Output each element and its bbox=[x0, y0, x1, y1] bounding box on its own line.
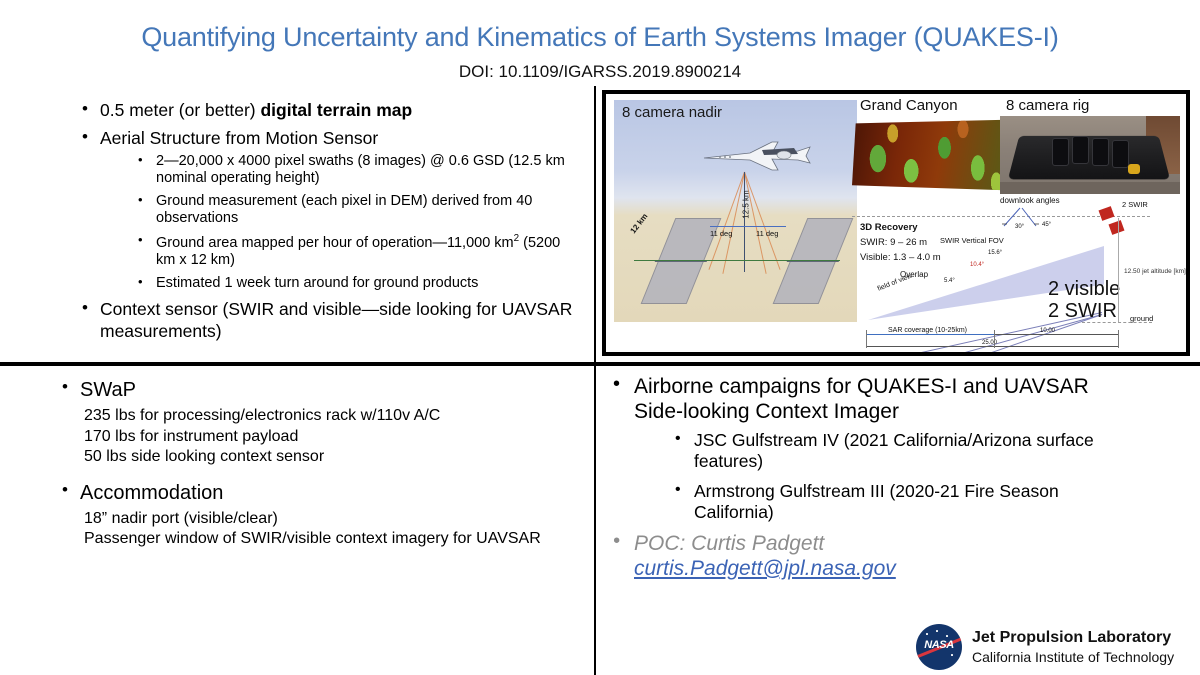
bottom-left-quadrant: SWaP 235 lbs for processing/electronics … bbox=[58, 378, 588, 550]
bottom-right-quadrant: Airborne campaigns for QUAKES-I and UAVS… bbox=[608, 374, 1108, 581]
ground-label: ground bbox=[1130, 314, 1153, 323]
jpl-line-2: California Institute of Technology bbox=[972, 649, 1174, 665]
airborne-campaigns-label: Airborne campaigns for QUAKES-I and UAVS… bbox=[634, 375, 1089, 423]
accommodation-line-1: 18” nadir port (visible/clear) bbox=[84, 509, 588, 529]
jet-altitude-label: 12.50 jet altitude [km] bbox=[1124, 268, 1186, 275]
swir-vertical-fov-label: SWIR Vertical FOV bbox=[940, 236, 1004, 245]
ground-reference-line bbox=[634, 260, 840, 261]
recovery-swir-range: SWIR: 9 – 26 m bbox=[860, 237, 927, 248]
jpl-logo: NASA Jet Propulsion Laboratory Californi… bbox=[916, 622, 1188, 672]
field-of-view-label: field of view bbox=[877, 273, 914, 293]
page-title: Quantifying Uncertainty and Kinematics o… bbox=[0, 22, 1200, 53]
nadir-altitude-label: 12.5 km bbox=[742, 190, 751, 218]
sub-bullet-ground-measurement: Ground measurement (each pixel in DEM) d… bbox=[134, 193, 583, 227]
swir-sensors-label: 2 SWIR bbox=[1122, 200, 1148, 209]
bullet-accommodation: Accommodation bbox=[58, 481, 588, 505]
swir-count-label: 2 SWIR bbox=[1048, 300, 1117, 323]
figure-panel: 8 camera nadir 12.5 km 11 deg 11 deg 12 … bbox=[602, 90, 1190, 356]
poc-line: POC: Curtis Padgett curtis.Padgett@jpl.n… bbox=[608, 532, 1108, 581]
nasa-meatball-icon: NASA bbox=[916, 624, 962, 670]
sub-bullet-ground-area: Ground area mapped per hour of operation… bbox=[134, 233, 583, 269]
nadir-altitude-line bbox=[744, 172, 745, 272]
vertical-divider-bottom bbox=[594, 366, 596, 675]
bullet-dtm-bold: digital terrain map bbox=[260, 100, 412, 120]
top-left-quadrant: 0.5 meter (or better) digital terrain ma… bbox=[78, 100, 583, 349]
sub-bullet-ground-area-prefix: Ground area mapped per hour of operation… bbox=[156, 235, 514, 251]
poc-email-link[interactable]: curtis.Padgett@jpl.nasa.gov bbox=[634, 557, 1108, 581]
campaign-jsc: JSC Gulfstream IV (2021 California/Arizo… bbox=[670, 430, 1108, 472]
campaign-armstrong: Armstrong Gulfstream III (2020-21 Fire S… bbox=[670, 481, 1108, 523]
camera-rig-photo bbox=[1000, 116, 1180, 194]
fov-angle-1: 15.6° bbox=[988, 250, 1002, 256]
accommodation-line-2: Passenger window of SWIR/visible context… bbox=[84, 529, 588, 549]
slide: Quantifying Uncertainty and Kinematics o… bbox=[0, 0, 1200, 675]
doi-subtitle: DOI: 10.1109/IGARSS.2019.8900214 bbox=[0, 62, 1200, 82]
bullet-asfm-label: Aerial Structure from Motion Sensor bbox=[100, 128, 378, 148]
vertical-divider-top bbox=[594, 86, 596, 362]
poc-label: POC: Curtis Padgett bbox=[634, 532, 824, 555]
recovery-title: 3D Recovery bbox=[860, 222, 918, 233]
overlap-angle: 5.4° bbox=[944, 278, 955, 284]
nadir-label: 8 camera nadir bbox=[622, 104, 722, 121]
bullet-asfm: Aerial Structure from Motion Sensor 2—20… bbox=[78, 128, 583, 292]
swir-sensor-2 bbox=[1109, 220, 1125, 235]
aircraft-icon bbox=[698, 136, 818, 176]
bullet-airborne-campaigns: Airborne campaigns for QUAKES-I and UAVS… bbox=[608, 374, 1108, 523]
sar-coverage-label: SAR coverage (10-25km) bbox=[888, 327, 967, 334]
dim-mid-label: 10.00 bbox=[1040, 328, 1055, 334]
sub-bullet-swaths: 2—20,000 x 4000 pixel swaths (8 images) … bbox=[134, 153, 583, 187]
swap-line-2: 170 lbs for instrument payload bbox=[84, 427, 588, 447]
recovery-diagram: 3D Recovery SWIR: 9 – 26 m Visible: 1.3 … bbox=[852, 194, 1186, 352]
angle-left-label: 11 deg bbox=[710, 229, 732, 238]
recovery-visible-range: Visible: 1.3 – 4.0 m bbox=[860, 252, 941, 263]
sub-bullet-turnaround: Estimated 1 week turn around for ground … bbox=[134, 275, 583, 292]
downlook-leader-lines bbox=[1002, 204, 1062, 230]
swath-width-label: 12 km bbox=[628, 212, 649, 235]
horizontal-divider bbox=[0, 362, 1200, 366]
swir-sensor-1 bbox=[1099, 206, 1115, 221]
camera-rig-label: 8 camera rig bbox=[1006, 97, 1089, 114]
swap-line-1: 235 lbs for processing/electronics rack … bbox=[84, 406, 588, 426]
bullet-swap: SWaP bbox=[58, 378, 588, 402]
swath-right bbox=[773, 218, 854, 304]
nasa-wordmark: NASA bbox=[916, 639, 962, 651]
nadir-diagram: 8 camera nadir 12.5 km 11 deg 11 deg 12 … bbox=[614, 100, 857, 322]
swap-line-3: 50 lbs side looking context sensor bbox=[84, 447, 588, 467]
jpl-line-1: Jet Propulsion Laboratory bbox=[972, 629, 1171, 647]
visible-count-label: 2 visible bbox=[1048, 278, 1120, 301]
grand-canyon-label: Grand Canyon bbox=[860, 97, 958, 114]
angle-right-label: 11 deg bbox=[756, 229, 778, 238]
fov-angle-2: 10.4° bbox=[970, 262, 984, 268]
bullet-dtm: 0.5 meter (or better) digital terrain ma… bbox=[78, 100, 583, 121]
bullet-dtm-lead: 0.5 meter (or better) bbox=[100, 100, 260, 120]
bullet-context-sensor: Context sensor (SWIR and visible—side lo… bbox=[78, 299, 583, 342]
